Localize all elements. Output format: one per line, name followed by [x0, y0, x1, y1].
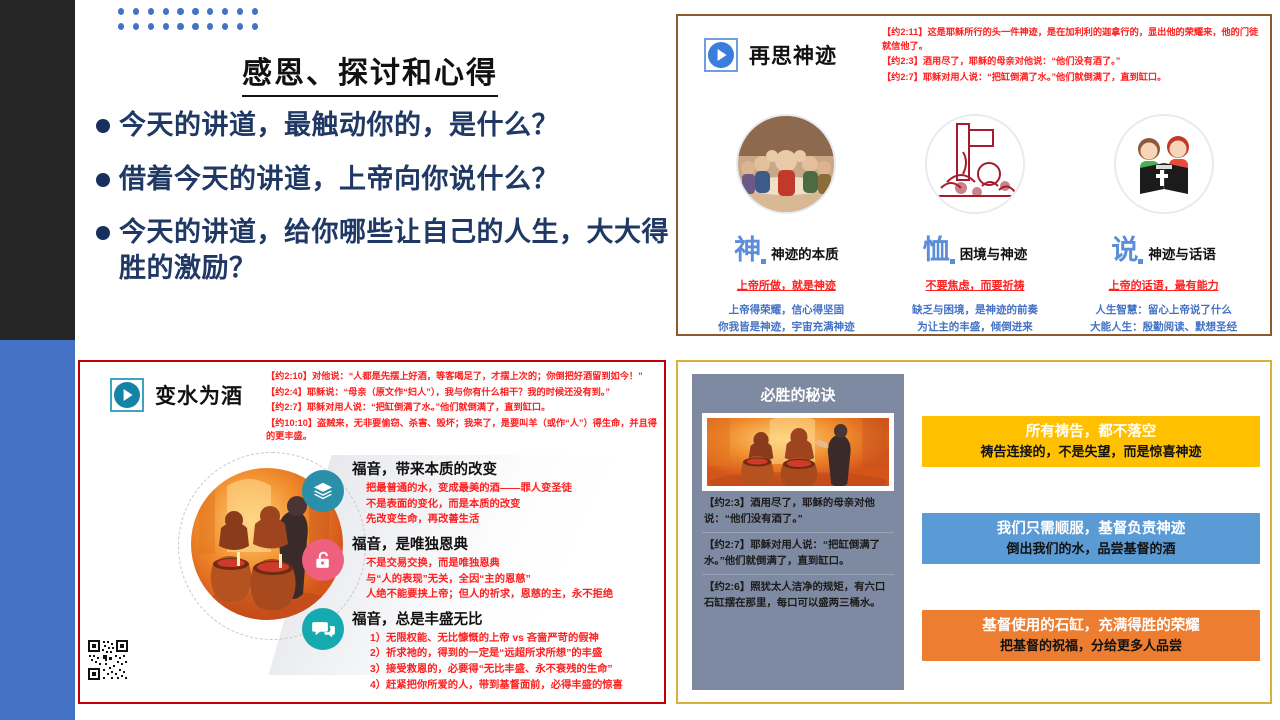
dot — [118, 8, 124, 15]
gospel-section-2: 福音，是唯独恩典 不是交易交换，而是唯独恩典 与“人的表现”无关，全因“主的恩慈… — [352, 533, 652, 603]
secret-left-column: 必胜的秘诀 — [692, 374, 904, 690]
rethink-tag-label: 再思神迹 — [749, 40, 837, 70]
discussion-title-text: 感恩、探讨和心得 — [242, 56, 498, 97]
rethink-column-key-line: 上帝的话语，最有能力 — [1069, 277, 1258, 293]
scripture-verse: 【约2:10】对他说：“人都是先摆上好酒，等客喝足了，才摆上次的；你倒把好酒留到… — [266, 370, 658, 384]
dot — [133, 8, 139, 15]
gospel-section-line: 人绝不能要挟上帝；但人的祈求，恩慈的主，永不拒绝 — [366, 587, 652, 603]
wine-jars-illustration-image — [702, 413, 894, 491]
rethink-column-1: 神 神迹的本质 上帝所做，就是神迹 上帝得荣耀，信心得坚固 你我皆是神迹，宇宙充… — [692, 114, 881, 337]
gospel-section-line: 3）接受救恩的，必要得“无比丰盛、永不衰残的生命” — [370, 662, 652, 678]
rethink-video-tag[interactable]: 再思神迹 — [704, 38, 837, 72]
scripture-verse: 【约2:7】耶稣对用人说：“把缸倒满了水。”他们就倒满了，直到缸口。 — [882, 71, 1260, 85]
children-reading-bible-image — [1114, 114, 1214, 214]
gospel-section-line: 2）祈求祂的，得到的一定是“远超所求所想”的丰盛 — [370, 646, 652, 662]
play-icon[interactable] — [110, 378, 144, 412]
detail-line: 人生智慧：留心上帝说了什么 — [1069, 302, 1258, 319]
dot — [148, 23, 154, 30]
speech-bubble-icon — [302, 608, 344, 650]
gospel-section-line: 4）赶紧把你所爱的人，带到基督面前，必得丰盛的惊喜 — [370, 678, 652, 694]
layers-icon — [302, 470, 344, 512]
heading-dot — [950, 259, 955, 264]
bullet-icon — [96, 173, 110, 187]
gospel-section-line: 1）无限权能、无比慷慨的上帝 vs 吝啬严苛的假神 — [370, 631, 652, 647]
secret-box-line2: 倒出我们的水，品尝基督的酒 — [930, 540, 1252, 558]
secret-right-column: 所有祷告，都不落空 祷告连接的，不是失望，而是惊喜神迹 我们只需顺服，基督负责神… — [922, 374, 1260, 690]
dot-row — [118, 23, 258, 30]
secret-verse: 【约2:6】照犹太人洁净的规矩，有六口石缸摆在那里，每口可以盛两三桶水。 — [702, 575, 894, 616]
scripture-verse: 【约2:7】耶稣对用人说：“把缸倒满了水。”他们就倒满了，直到缸口。 — [266, 401, 658, 415]
rethink-column-3: 说 神迹与话语 上帝的话语，最有能力 人生智慧：留心上帝说了什么 大能人生：殷勤… — [1069, 114, 1258, 337]
dot — [192, 23, 198, 30]
detail-line: 大能人生：殷勤阅读、默想圣经 — [1069, 319, 1258, 336]
dot — [237, 8, 243, 15]
rethink-column-2: 恤 困境与神迹 不要焦虑，而要祈祷 缺乏与困境，是神迹的前奏 为让主的丰盛，倾倒… — [881, 114, 1070, 337]
rethink-column-detail: 缺乏与困境，是神迹的前奏 为让主的丰盛，倾倒进来 — [881, 302, 1070, 337]
gospel-sections: 福音，带来本质的改变 把最普通的水，变成最美的酒——罪人变圣徒 不是表面的变化，… — [352, 458, 652, 698]
discussion-question-1: 今天的讲道，最触动你的，是什么？ — [96, 108, 676, 144]
scripture-verse: 【约2:3】酒用尽了，耶稣的母亲对他说：“他们没有酒了。” — [882, 55, 1260, 69]
dot — [252, 8, 258, 15]
left-edge-blue-strip — [0, 340, 75, 720]
discussion-question-list: 今天的讲道，最触动你的，是什么？ 借着今天的讲道，上帝向你说什么？ 今天的讲道，… — [96, 108, 676, 305]
discussion-question-text: 今天的讲道，最触动你的，是什么？ — [119, 108, 676, 144]
rethink-column-subtitle: 神迹的本质 — [771, 243, 839, 263]
detail-line: 为让主的丰盛，倾倒进来 — [881, 319, 1070, 336]
heading-dot — [1138, 259, 1143, 264]
bullet-icon — [96, 119, 110, 133]
secret-verse: 【约2:3】酒用尽了，耶稣的母亲对他说：“他们没有酒了。” — [702, 491, 894, 533]
scripture-verse: 【约2:4】耶稣说：“母亲（原文作“妇人”），我与你有什么相干？我的时候还没有到… — [266, 386, 658, 400]
secret-box-glory: 基督使用的石缸，充满得胜的荣耀 把基督的祝福，分给更多人品尝 — [922, 610, 1260, 661]
gospel-section-1: 福音，带来本质的改变 把最普通的水，变成最美的酒——罪人变圣徒 不是表面的变化，… — [352, 458, 652, 528]
dot — [177, 8, 183, 15]
dot — [237, 23, 243, 30]
gospel-section-heading: 福音，总是丰盛无比 — [352, 608, 652, 629]
secret-of-victory-panel: 必胜的秘诀 — [676, 360, 1272, 704]
dot — [222, 8, 228, 15]
secret-box-line1: 基督使用的石缸，充满得胜的荣耀 — [930, 617, 1252, 637]
red-engraving-illustration-image — [925, 114, 1025, 214]
decorative-dot-grid — [118, 8, 258, 38]
secret-box-line2: 把基督的祝福，分给更多人品尝 — [930, 637, 1252, 655]
detail-line: 缺乏与困境，是神迹的前奏 — [881, 302, 1070, 319]
dot — [163, 8, 169, 15]
secret-box-obedience: 我们只需顺服，基督负责神迹 倒出我们的水，品尝基督的酒 — [922, 513, 1260, 564]
play-icon[interactable] — [704, 38, 738, 72]
rethink-column-detail: 上帝得荣耀，信心得坚固 你我皆是神迹，宇宙充满神迹 — [692, 302, 881, 337]
rethink-scripture-list: 【约2:11】这是耶稣所行的头一件神迹，是在加利利的迦拿行的，显出他的荣耀来，他… — [882, 26, 1260, 86]
secret-box-line2: 祷告连接的，不是失望，而是惊喜神迹 — [930, 443, 1252, 461]
last-supper-painting-image — [736, 114, 836, 214]
water-to-wine-scripture-list: 【约2:10】对他说：“人都是先摆上好酒，等客喝足了，才摆上次的；你倒把好酒留到… — [266, 370, 658, 446]
rethink-miracle-panel: 再思神迹 【约2:11】这是耶稣所行的头一件神迹，是在加利利的迦拿行的，显出他的… — [676, 14, 1272, 336]
rethink-column-big-char: 神 — [734, 228, 760, 267]
discussion-title: 感恩、探讨和心得 — [90, 48, 650, 92]
dot — [163, 23, 169, 30]
dot-row — [118, 8, 258, 15]
discussion-question-2: 借着今天的讲道，上帝向你说什么？ — [96, 162, 676, 198]
rethink-columns: 神 神迹的本质 上帝所做，就是神迹 上帝得荣耀，信心得坚固 你我皆是神迹，宇宙充… — [692, 114, 1258, 337]
rethink-column-heading: 恤 困境与神迹 — [881, 228, 1070, 267]
rethink-column-subtitle: 神迹与话语 — [1148, 243, 1216, 263]
rethink-column-key-line: 上帝所做，就是神迹 — [692, 277, 881, 293]
gospel-section-line: 先改变生命，再改善生活 — [366, 512, 652, 528]
bullet-icon — [96, 226, 110, 240]
rethink-column-subtitle: 困境与神迹 — [960, 243, 1028, 263]
gospel-section-heading: 福音，带来本质的改变 — [352, 458, 652, 479]
dot — [118, 23, 124, 30]
dot — [207, 23, 213, 30]
gospel-section-line: 把最普通的水，变成最美的酒——罪人变圣徒 — [366, 481, 652, 497]
rethink-column-detail: 人生智慧：留心上帝说了什么 大能人生：殷勤阅读、默想圣经 — [1069, 302, 1258, 337]
secret-box-prayer: 所有祷告，都不落空 祷告连接的，不是失望，而是惊喜神迹 — [922, 416, 1260, 467]
detail-line: 你我皆是神迹，宇宙充满神迹 — [692, 319, 881, 336]
rethink-column-heading: 说 神迹与话语 — [1069, 228, 1258, 267]
detail-line: 上帝得荣耀，信心得坚固 — [692, 302, 881, 319]
gospel-section-line: 与“人的表现”无关，全因“主的恩慈” — [366, 572, 652, 588]
dot — [207, 8, 213, 15]
gospel-section-3: 福音，总是丰盛无比 1）无限权能、无比慷慨的上帝 vs 吝啬严苛的假神 2）祈求… — [352, 608, 652, 694]
dot — [252, 23, 258, 30]
water-to-wine-video-tag[interactable]: 变水为酒 — [110, 378, 243, 412]
dot — [177, 23, 183, 30]
dot — [148, 8, 154, 15]
heading-dot — [761, 259, 766, 264]
secret-verse: 【约2:7】耶稣对用人说：“把缸倒满了水。”他们就倒满了，直到缸口。 — [702, 533, 894, 575]
water-to-wine-tag-label: 变水为酒 — [155, 380, 243, 410]
dot — [192, 8, 198, 15]
scripture-verse: 【约10:10】盗贼来，无非要偷窃、杀害、毁坏；我来了，是要叫羊（或作“人”）得… — [266, 417, 658, 444]
discussion-question-text: 借着今天的讲道，上帝向你说什么？ — [119, 162, 676, 198]
dot — [133, 23, 139, 30]
rethink-column-key-line: 不要焦虑，而要祈祷 — [881, 277, 1070, 293]
dot — [222, 23, 228, 30]
unlock-icon — [302, 539, 344, 581]
secret-box-line1: 所有祷告，都不落空 — [930, 423, 1252, 443]
slide-canvas: 感恩、探讨和心得 今天的讲道，最触动你的，是什么？ 借着今天的讲道，上帝向你说什… — [0, 0, 1280, 720]
discussion-question-3: 今天的讲道，给你哪些让自己的人生，大大得胜的激励？ — [96, 215, 676, 286]
rethink-column-big-char: 说 — [1111, 228, 1137, 267]
gospel-icon-column — [302, 470, 344, 677]
gospel-section-line: 不是交易交换，而是唯独恩典 — [366, 556, 652, 572]
rethink-column-big-char: 恤 — [923, 228, 949, 267]
scripture-verse: 【约2:11】这是耶稣所行的头一件神迹，是在加利利的迦拿行的，显出他的荣耀来，他… — [882, 26, 1260, 53]
left-edge-dark-strip — [0, 0, 75, 340]
rethink-column-heading: 神 神迹的本质 — [692, 228, 881, 267]
gospel-section-heading: 福音，是唯独恩典 — [352, 533, 652, 554]
secret-title: 必胜的秘诀 — [702, 384, 894, 405]
qr-code[interactable] — [86, 638, 130, 682]
discussion-question-text: 今天的讲道，给你哪些让自己的人生，大大得胜的激励？ — [119, 215, 676, 286]
secret-box-line1: 我们只需顺服，基督负责神迹 — [930, 520, 1252, 540]
gospel-section-line: 不是表面的变化，而是本质的改变 — [366, 497, 652, 513]
